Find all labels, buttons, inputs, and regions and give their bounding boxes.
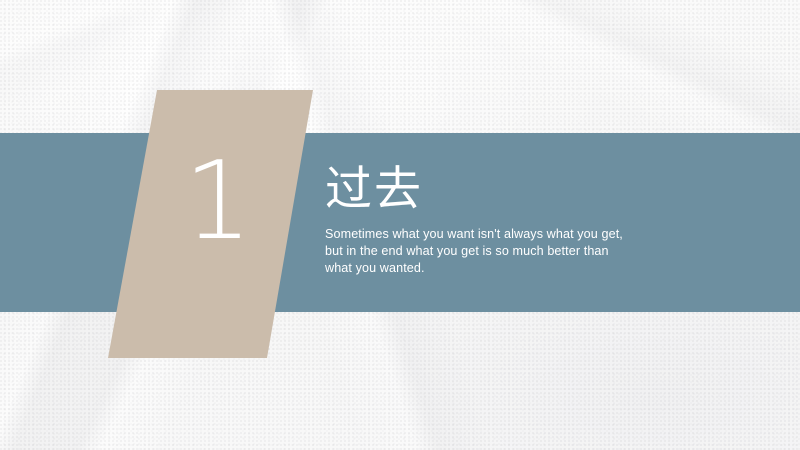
slide-subtitle: Sometimes what you want isn't always wha… (325, 226, 665, 278)
slide-title: 过去 (325, 164, 665, 217)
section-number: 1 (158, 148, 278, 256)
subtitle-line: Sometimes what you want isn't always wha… (325, 226, 665, 243)
subtitle-line: what you wanted. (325, 260, 665, 277)
subtitle-line: but in the end what you get is so much b… (325, 243, 665, 260)
slide-text-block: 过去 Sometimes what you want isn't always … (325, 164, 665, 278)
slide-canvas: 1 过去 Sometimes what you want isn't alway… (0, 0, 800, 450)
